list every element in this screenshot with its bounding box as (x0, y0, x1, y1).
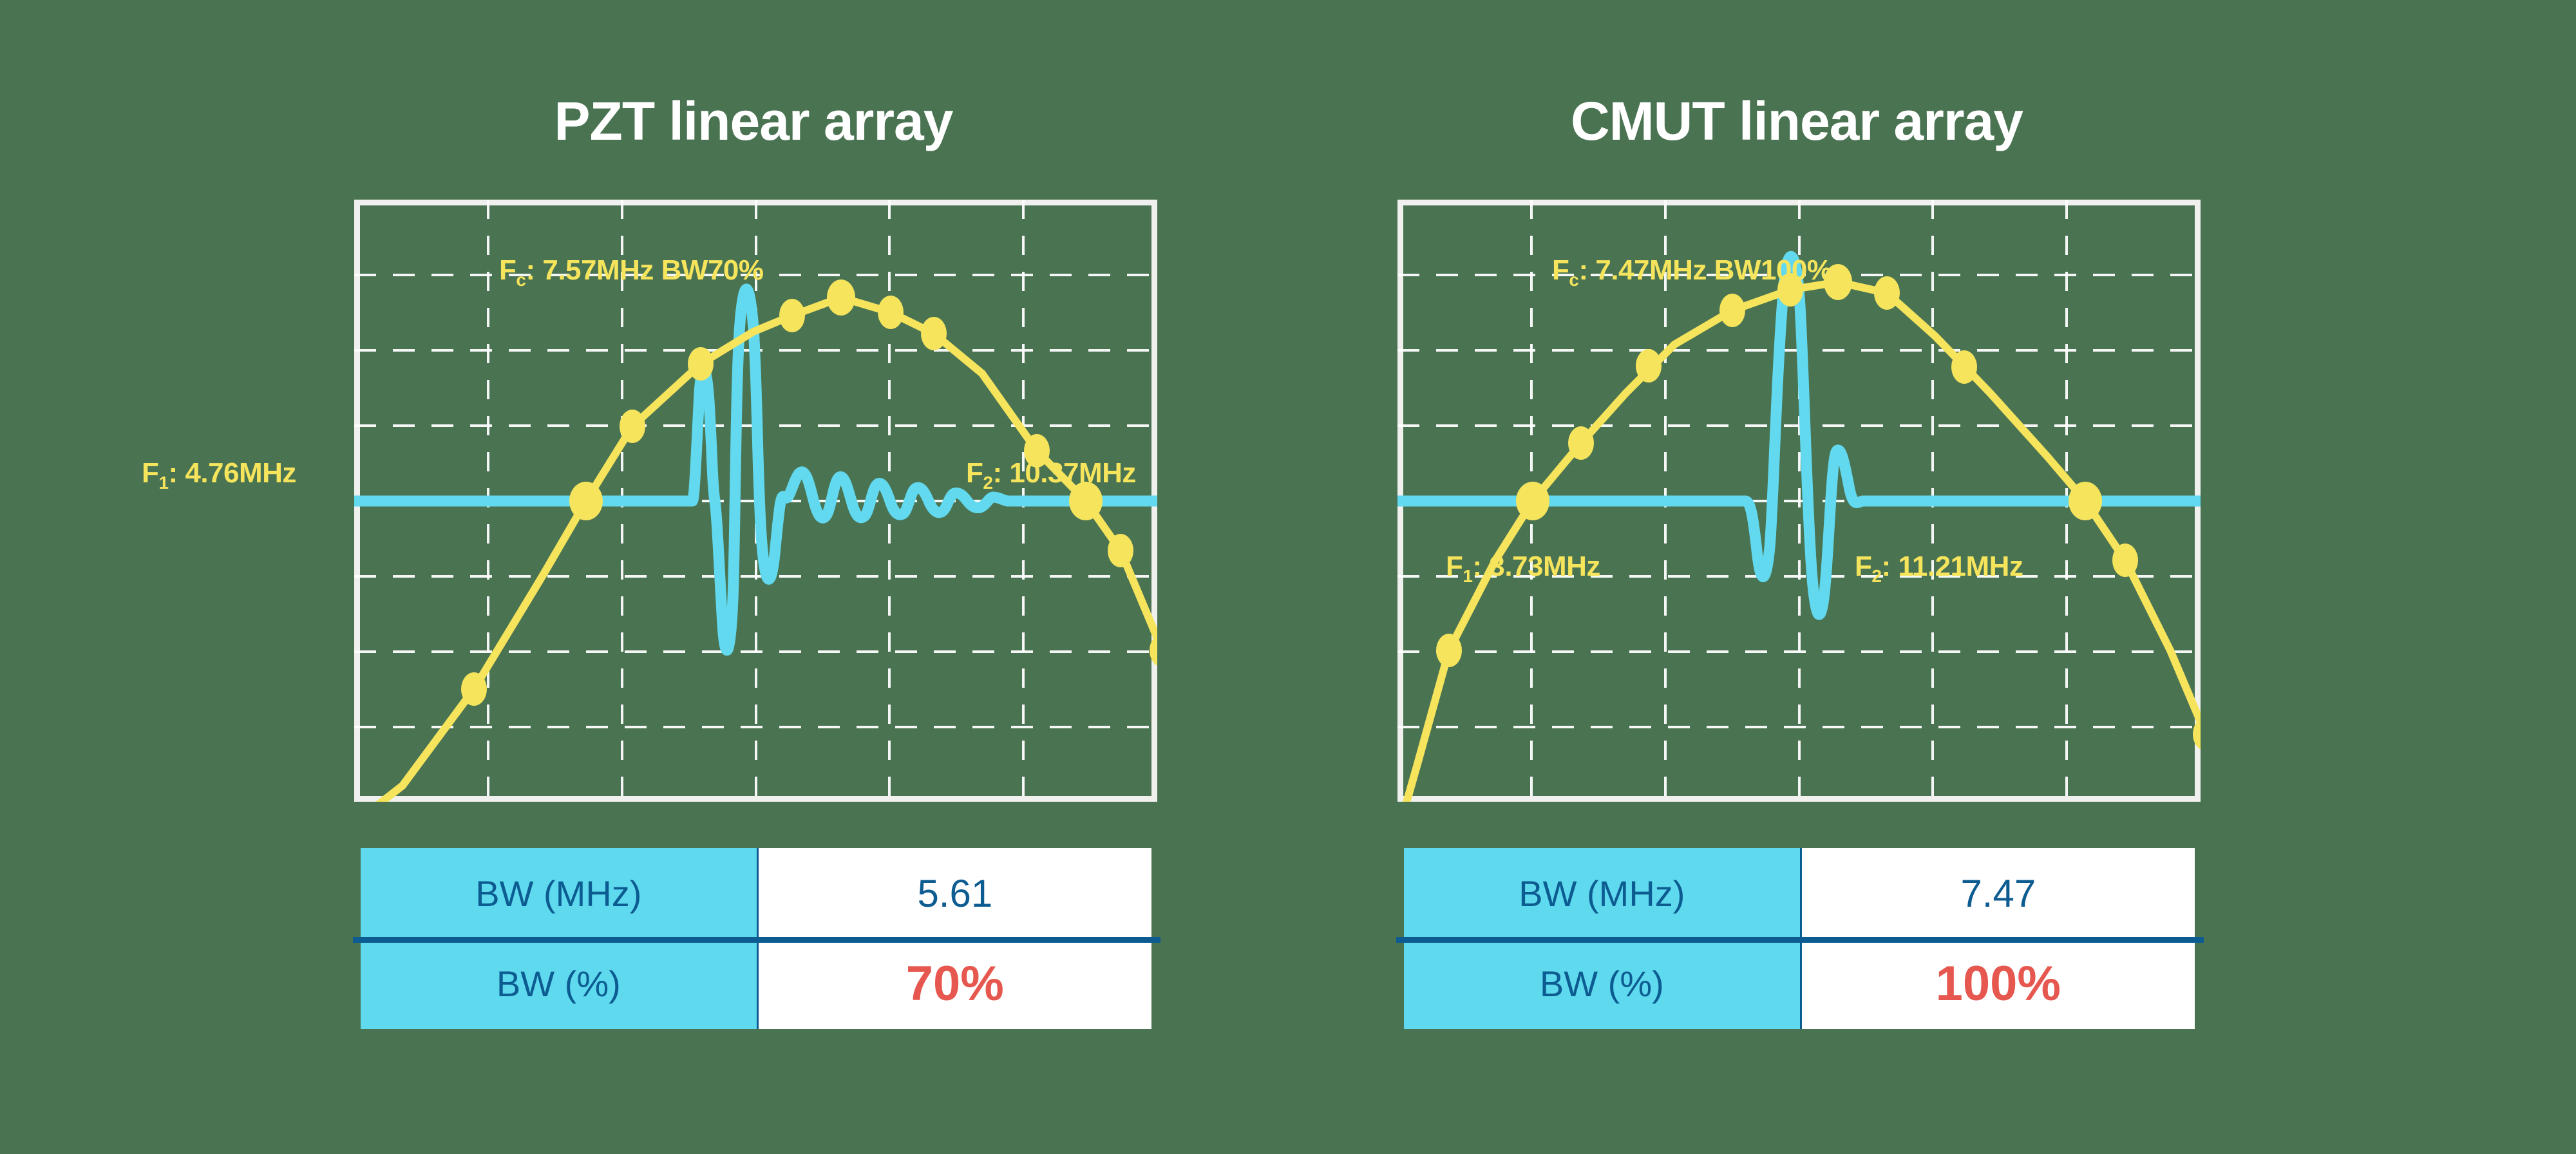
plot-pzt (354, 200, 1157, 802)
fc-text: : 7.57MHz BW70% (526, 254, 763, 286)
cell-label-bw-mhz: BW (MHz) (1404, 848, 1802, 939)
table-divider-cmut (1396, 937, 2204, 943)
f1-subscript: 1 (158, 473, 168, 493)
fc-symbol: F (1552, 254, 1569, 286)
panel-cmut: CMUT linear array (1314, 0, 2280, 1154)
f2-text: : 10.37MHz (992, 457, 1135, 489)
cell-value-bw-pct: 100% (1802, 939, 2195, 1030)
annotation-f2-cmut: F2: 11.21MHz (1855, 551, 2023, 583)
f1-symbol: F (1446, 551, 1463, 582)
annotation-center-cmut: Fc: 7.47MHz BW100% (1552, 254, 1832, 287)
cell-label-bw-pct: BW (%) (1404, 939, 1802, 1030)
plot-cmut (1397, 200, 2201, 802)
table-divider-pzt (353, 937, 1160, 943)
table-row: BW (MHz) 5.61 (361, 848, 1151, 939)
figure-canvas: PZT linear array (0, 0, 2576, 1154)
panel-title-pzt: PZT linear array (270, 90, 1236, 153)
f2-symbol: F (966, 457, 983, 489)
fc-text: : 7.47MHz BW100% (1578, 254, 1832, 286)
annotation-f1-cmut: F1: 3.73MHz (1446, 551, 1600, 583)
f1-text: : 4.76MHz (168, 457, 296, 489)
f1-text: : 3.73MHz (1472, 551, 1600, 582)
cell-value-bw-mhz: 5.61 (759, 848, 1151, 939)
cell-value-bw-pct: 70% (759, 939, 1151, 1030)
fc-symbol: F (499, 254, 516, 286)
fc-subscript: c (1569, 270, 1578, 290)
f1-symbol: F (142, 457, 158, 489)
annotation-center-pzt: Fc: 7.57MHz BW70% (499, 254, 764, 287)
cell-label-bw-mhz: BW (MHz) (361, 848, 759, 939)
f2-subscript: 2 (983, 473, 992, 493)
table-row: BW (%) 100% (1404, 939, 2195, 1030)
table-row: BW (MHz) 7.47 (1404, 848, 2195, 939)
f2-subscript: 2 (1871, 566, 1881, 586)
panel-title-cmut: CMUT linear array (1314, 90, 2280, 153)
panel-pzt: PZT linear array (270, 0, 1236, 1154)
f1-subscript: 1 (1463, 566, 1472, 586)
f2-text: : 11.21MHz (1881, 551, 2023, 582)
spectrum-markers-pzt (461, 279, 1175, 706)
cell-label-bw-pct: BW (%) (361, 939, 759, 1030)
annotation-f2-pzt: F2: 10.37MHz (966, 457, 1136, 489)
annotation-f1-pzt: F1: 4.76MHz (142, 457, 296, 489)
fc-subscript: c (516, 270, 526, 290)
f2-symbol: F (1855, 551, 1871, 582)
table-row: BW (%) 70% (361, 939, 1151, 1030)
cell-value-bw-mhz: 7.47 (1802, 848, 2195, 939)
